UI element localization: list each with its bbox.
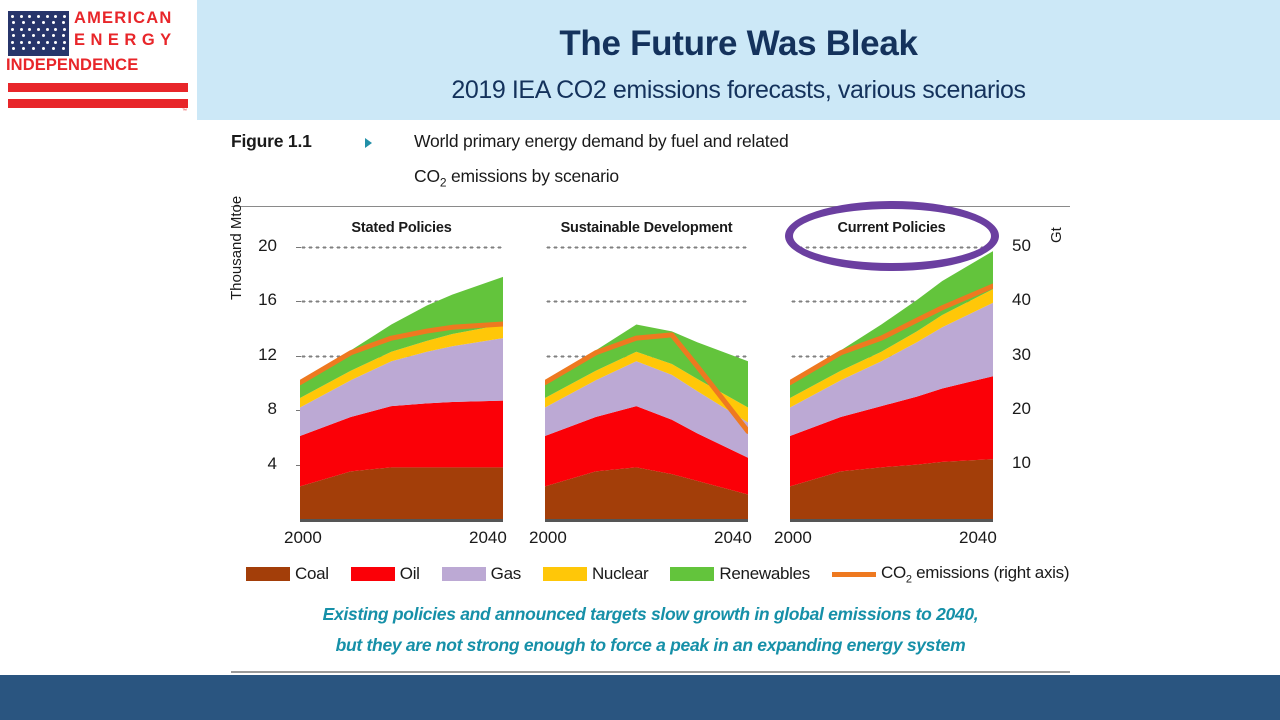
legend-item: Nuclear: [543, 564, 648, 584]
star-icon: [12, 34, 15, 37]
figure-caption-line2: CO2 emissions by scenario: [414, 166, 619, 190]
legend-color-swatch: [543, 567, 587, 581]
star-icon: [20, 28, 23, 31]
chart-legend: CoalOilGasNuclearRenewablesCO2 emissions…: [246, 563, 1058, 585]
star-icon: [63, 15, 66, 18]
legend-label-rest: emissions (right axis): [912, 563, 1069, 582]
page-subtitle: 2019 IEA CO2 emissions forecasts, variou…: [197, 76, 1280, 105]
y-tick-left: 4: [247, 454, 277, 474]
star-icon: [52, 34, 55, 37]
star-icon: [11, 28, 14, 31]
panel-x-axis: [300, 519, 503, 522]
star-icon: [63, 28, 66, 31]
y-tick-right: 10: [1012, 453, 1046, 473]
star-icon: [37, 41, 40, 44]
star-icon: [42, 21, 45, 24]
star-icon: [63, 41, 66, 44]
legend-label: Gas: [491, 564, 521, 584]
star-icon: [62, 47, 65, 50]
figure-caption-rest: emissions by scenario: [446, 166, 619, 186]
star-icon: [11, 41, 14, 44]
figure-caption-line1: World primary energy demand by fuel and …: [414, 131, 789, 152]
star-icon: [46, 41, 49, 44]
star-icon: [22, 34, 25, 37]
panel-title-sustainable-development: Sustainable Development: [545, 220, 748, 236]
panel-plot-2: [545, 243, 748, 523]
footnote-line2: but they are not strong enough to force …: [231, 635, 1070, 656]
star-icon: [28, 15, 31, 18]
flag-star-row: [8, 34, 69, 37]
logo-line-independence: INDEPENDENCE: [6, 55, 138, 76]
x-tick-start: 2000: [774, 528, 812, 548]
x-tick-start: 2000: [529, 528, 567, 548]
legend-label: CO2 emissions (right axis): [881, 563, 1069, 585]
figure-label: Figure 1.1: [231, 131, 312, 152]
legend-color-swatch: [351, 567, 395, 581]
star-icon: [32, 47, 35, 50]
star-icon: [32, 21, 35, 24]
star-icon: [20, 41, 23, 44]
x-tick-end: 2040: [959, 528, 997, 548]
star-icon: [37, 28, 40, 31]
panel-title-stated-policies: Stated Policies: [300, 220, 503, 236]
star-icon: [42, 47, 45, 50]
star-icon: [52, 21, 55, 24]
flag-star-row: [8, 15, 69, 18]
star-icon: [54, 15, 57, 18]
logo-line-american: AMERICAN: [74, 8, 173, 29]
legend-label: Coal: [295, 564, 329, 584]
star-icon: [46, 15, 49, 18]
logo-trademark: ™: [182, 108, 187, 114]
y-tick-left: 8: [247, 399, 277, 419]
flag-star-row: [8, 28, 69, 31]
legend-item: Oil: [351, 564, 420, 584]
y-axis-label-left: Thousand Mtoe: [228, 196, 245, 300]
star-icon: [12, 21, 15, 24]
legend-item: Renewables: [670, 564, 810, 584]
star-icon: [62, 21, 65, 24]
x-tick-end: 2040: [469, 528, 507, 548]
y-axis-label-right: Gt: [1048, 227, 1065, 243]
star-icon: [22, 47, 25, 50]
legend-label-co2: CO: [881, 563, 906, 582]
legend-color-swatch: [246, 567, 290, 581]
logo-stripe-2: [8, 99, 188, 108]
star-icon: [28, 28, 31, 31]
panel-plot-1: [300, 243, 503, 523]
star-icon: [46, 28, 49, 31]
panel-plot-3: [790, 243, 993, 523]
divider-bottom: [231, 671, 1070, 673]
legend-line-swatch: [832, 572, 876, 577]
star-icon: [22, 21, 25, 24]
star-icon: [28, 41, 31, 44]
star-icon: [11, 15, 14, 18]
brand-logo: AMERICAN ENERGY INDEPENDENCE ™: [0, 0, 197, 120]
star-icon: [62, 34, 65, 37]
highlight-ellipse-annotation: [785, 201, 999, 271]
legend-label: Oil: [400, 564, 420, 584]
legend-item: Coal: [246, 564, 329, 584]
panel-x-axis: [790, 519, 993, 522]
page-title: The Future Was Bleak: [197, 24, 1280, 64]
legend-item: Gas: [442, 564, 521, 584]
y-tick-right: 50: [1012, 236, 1046, 256]
legend-label: Renewables: [719, 564, 810, 584]
y-tick-left: 20: [247, 236, 277, 256]
legend-color-swatch: [442, 567, 486, 581]
legend-item: CO2 emissions (right axis): [832, 563, 1069, 585]
flag-star-field-icon: [8, 11, 69, 56]
footnote-line1: Existing policies and announced targets …: [231, 604, 1070, 625]
star-icon: [42, 34, 45, 37]
y-tick-left: 16: [247, 290, 277, 310]
panel-x-axis: [545, 519, 748, 522]
star-icon: [32, 34, 35, 37]
flag-star-row: [8, 41, 69, 44]
logo-line-energy: ENERGY: [74, 30, 177, 51]
figure-caption-co2: CO: [414, 166, 440, 186]
legend-color-swatch: [670, 567, 714, 581]
star-icon: [54, 28, 57, 31]
y-tick-left: 12: [247, 345, 277, 365]
star-icon: [37, 15, 40, 18]
flag-star-row: [8, 21, 69, 24]
y-tick-right: 30: [1012, 345, 1046, 365]
x-tick-start: 2000: [284, 528, 322, 548]
star-icon: [20, 15, 23, 18]
x-tick-end: 2040: [714, 528, 752, 548]
legend-label: Nuclear: [592, 564, 648, 584]
y-tick-right: 20: [1012, 399, 1046, 419]
flag-star-row: [8, 47, 69, 50]
footer-band: [0, 675, 1280, 720]
star-icon: [52, 47, 55, 50]
logo-stripe-1: [8, 83, 188, 92]
star-icon: [54, 41, 57, 44]
y-tick-right: 40: [1012, 290, 1046, 310]
star-icon: [12, 47, 15, 50]
triangle-right-icon: [365, 138, 372, 148]
